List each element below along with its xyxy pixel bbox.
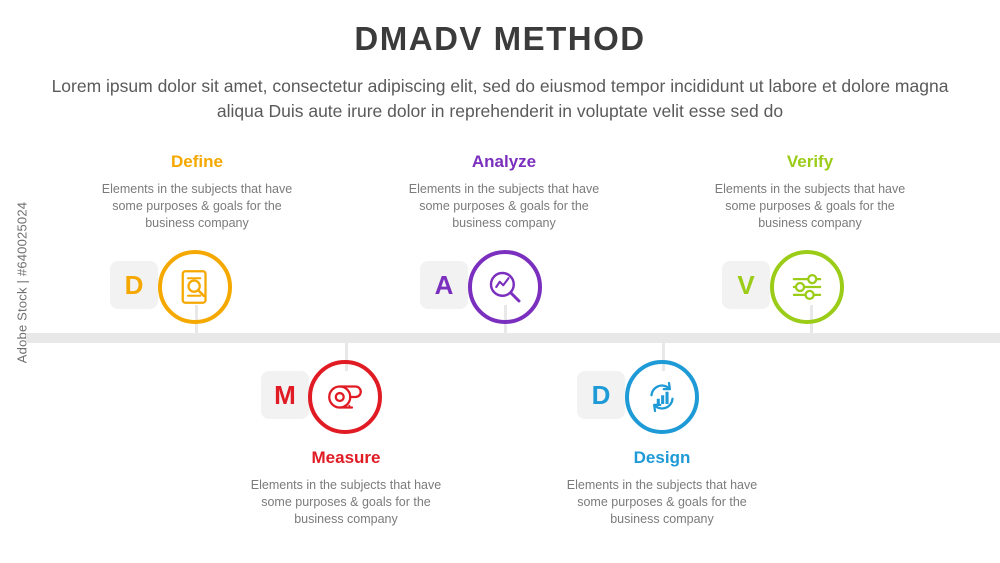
node-verify-letter: V (737, 270, 754, 301)
node-measure-title: Measure (246, 448, 446, 468)
node-measure-letter-badge: M (261, 371, 309, 419)
refresh-chart-icon[interactable] (625, 360, 699, 434)
node-define-letter-badge: D (110, 261, 158, 309)
node-analyze-description: Elements in the subjects that have some … (404, 181, 604, 232)
node-define-description: Elements in the subjects that have some … (97, 181, 297, 232)
node-analyze-letter-badge: A (420, 261, 468, 309)
infographic-canvas: Adobe Stock | #640025024 DMADV METHOD Lo… (0, 0, 1000, 563)
node-verify-description: Elements in the subjects that have some … (710, 181, 910, 232)
node-verify-title: Verify (710, 152, 910, 172)
node-design-title: Design (562, 448, 762, 468)
measuring-tape-icon[interactable] (308, 360, 382, 434)
node-analyze-title: Analyze (404, 152, 604, 172)
node-define-title: Define (97, 152, 297, 172)
node-design-letter-badge: D (577, 371, 625, 419)
timeline-bar (26, 333, 1000, 343)
document-search-icon[interactable] (158, 250, 232, 324)
node-design-description: Elements in the subjects that have some … (562, 477, 762, 528)
sliders-icon[interactable] (770, 250, 844, 324)
node-design-letter: D (592, 380, 611, 411)
node-verify-letter-badge: V (722, 261, 770, 309)
magnifier-chart-icon[interactable] (468, 250, 542, 324)
page-title: DMADV METHOD (0, 20, 1000, 58)
watermark-text: Adobe Stock | #640025024 (15, 143, 30, 423)
node-measure-letter: M (274, 380, 296, 411)
page-subtitle: Lorem ipsum dolor sit amet, consectetur … (50, 74, 950, 124)
node-analyze-letter: A (435, 270, 454, 301)
watermark-strip: Adobe Stock | #640025024 (0, 0, 26, 563)
node-measure-description: Elements in the subjects that have some … (246, 477, 446, 528)
node-define-letter: D (125, 270, 144, 301)
